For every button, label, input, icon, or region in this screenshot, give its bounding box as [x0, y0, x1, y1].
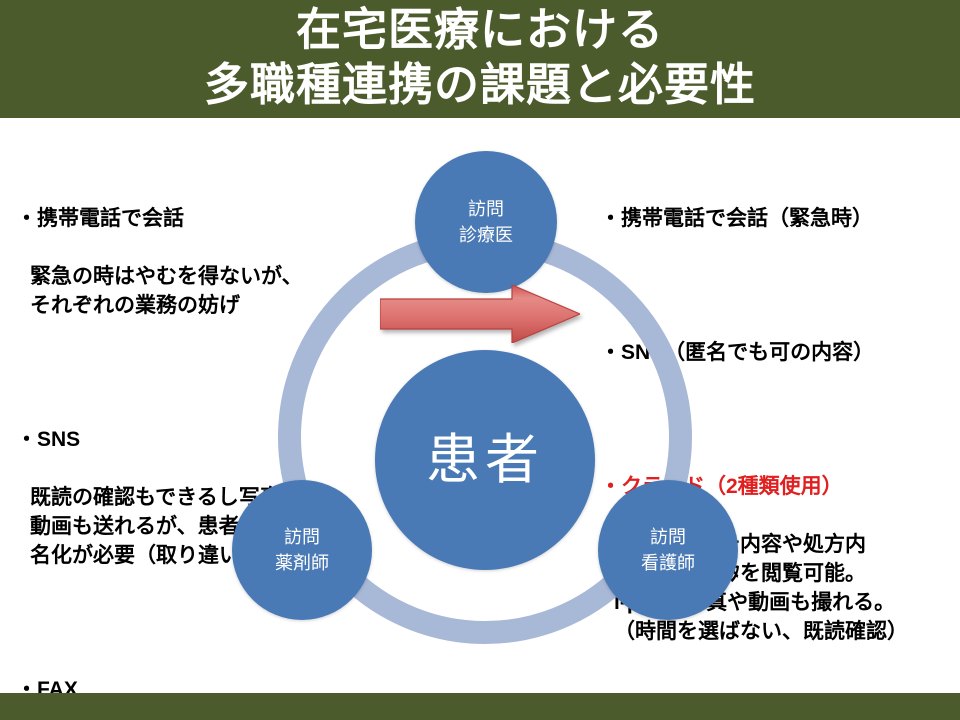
node-visiting-pharmacist-line2: 薬剤師 [275, 550, 329, 576]
node-visiting-pharmacist-line1: 訪問 [284, 524, 320, 550]
node-visiting-nurse: 訪問 看護師 [598, 480, 738, 620]
node-patient-label: 患者 [426, 430, 544, 490]
node-visiting-doctor-line2: 診療医 [459, 222, 513, 248]
footer-band [0, 693, 960, 720]
node-visiting-nurse-line2: 看護師 [641, 550, 695, 576]
cycle-diagram: 患者 訪問 診療医 訪問 看護師 訪問 薬剤師 [270, 140, 700, 660]
right-arrow-icon [380, 285, 580, 343]
node-visiting-nurse-line1: 訪問 [650, 524, 686, 550]
node-visiting-doctor-line1: 訪問 [468, 196, 504, 222]
slide-canvas: 在宅医療における 多職種連携の課題と必要性 ・携帯電話で会話 緊急の時はやむを得… [0, 0, 960, 720]
node-patient: 患者 [375, 350, 595, 570]
page-title: 在宅医療における 多職種連携の課題と必要性 [0, 2, 960, 112]
node-visiting-doctor: 訪問 診療医 [415, 151, 557, 293]
node-visiting-pharmacist: 訪問 薬剤師 [232, 480, 372, 620]
